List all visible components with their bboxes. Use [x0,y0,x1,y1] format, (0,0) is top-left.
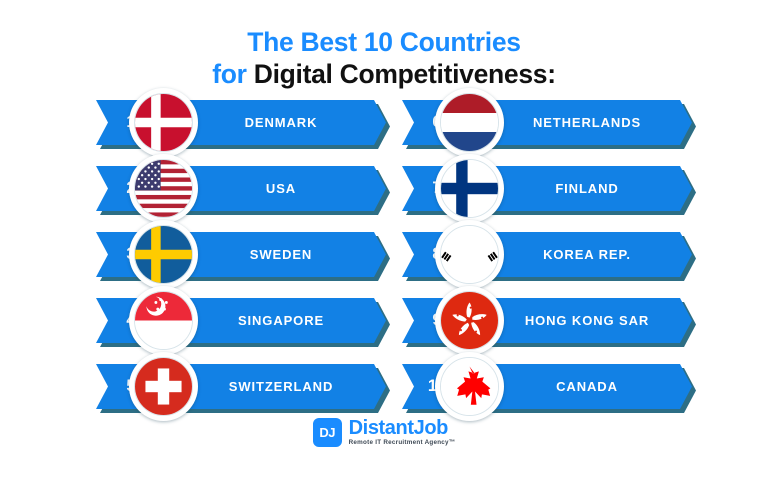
flag-finland-icon [435,154,504,223]
ranking-row[interactable]: 4 SINGAPORE [96,298,396,343]
flag-usa-icon [129,154,198,223]
ranking-row[interactable]: 10 CANADA [402,364,702,409]
ranking-row[interactable]: 1 DENMARK [96,100,396,145]
logo-mark-icon: DJ [313,418,342,447]
ranking-row[interactable]: 6 NETHERLANDS [402,100,702,145]
country-label: USA [188,166,374,211]
title-line-2-prefix: for [212,59,254,89]
ranking-column-left: 1 DENMARK2 [96,100,396,412]
ranking-columns: 1 DENMARK2 [0,100,768,412]
ranking-row[interactable]: 5 SWITZERLAND [96,364,396,409]
country-label: SINGAPORE [188,298,374,343]
flag-denmark-icon [129,88,198,157]
logo-tagline: Remote IT Recruitment Agency™ [349,440,456,447]
ranking-row[interactable]: 7 FINLAND [402,166,702,211]
logo-name: DistantJob [349,418,456,439]
ranking-row[interactable]: 3 SWEDEN [96,232,396,277]
brand-logo[interactable]: DJ DistantJob Remote IT Recruitment Agen… [0,418,768,447]
logo-text: DistantJob Remote IT Recruitment Agency™ [349,418,456,447]
title-line-1: The Best 10 Countries [0,26,768,58]
country-label: DENMARK [188,100,374,145]
flag-hongkong-icon [435,286,504,355]
ranking-column-right: 6 NETHERLANDS7 FINLAND8 [402,100,702,412]
ranking-row[interactable]: 9 HONG KONG SAR [402,298,702,343]
country-label: FINLAND [494,166,680,211]
infographic-page: The Best 10 Countries for Digital Compet… [0,0,768,481]
country-label: CANADA [494,364,680,409]
country-label: NETHERLANDS [494,100,680,145]
country-label: KOREA REP. [494,232,680,277]
country-label: SWEDEN [188,232,374,277]
flag-netherlands-icon [435,88,504,157]
title-line-2: for Digital Competitiveness: [0,58,768,90]
flag-singapore-icon [129,286,198,355]
country-label: HONG KONG SAR [494,298,680,343]
country-label: SWITZERLAND [188,364,374,409]
ranking-row[interactable]: 2 USA [96,166,396,211]
title-line-2-rest: Digital Competitiveness: [254,59,556,89]
page-title: The Best 10 Countries for Digital Compet… [0,26,768,91]
flag-sweden-icon [129,220,198,289]
ranking-row[interactable]: 8 [402,232,702,277]
flag-canada-icon [435,352,504,421]
flag-switzerland-icon [129,352,198,421]
flag-korea-icon [435,220,504,289]
